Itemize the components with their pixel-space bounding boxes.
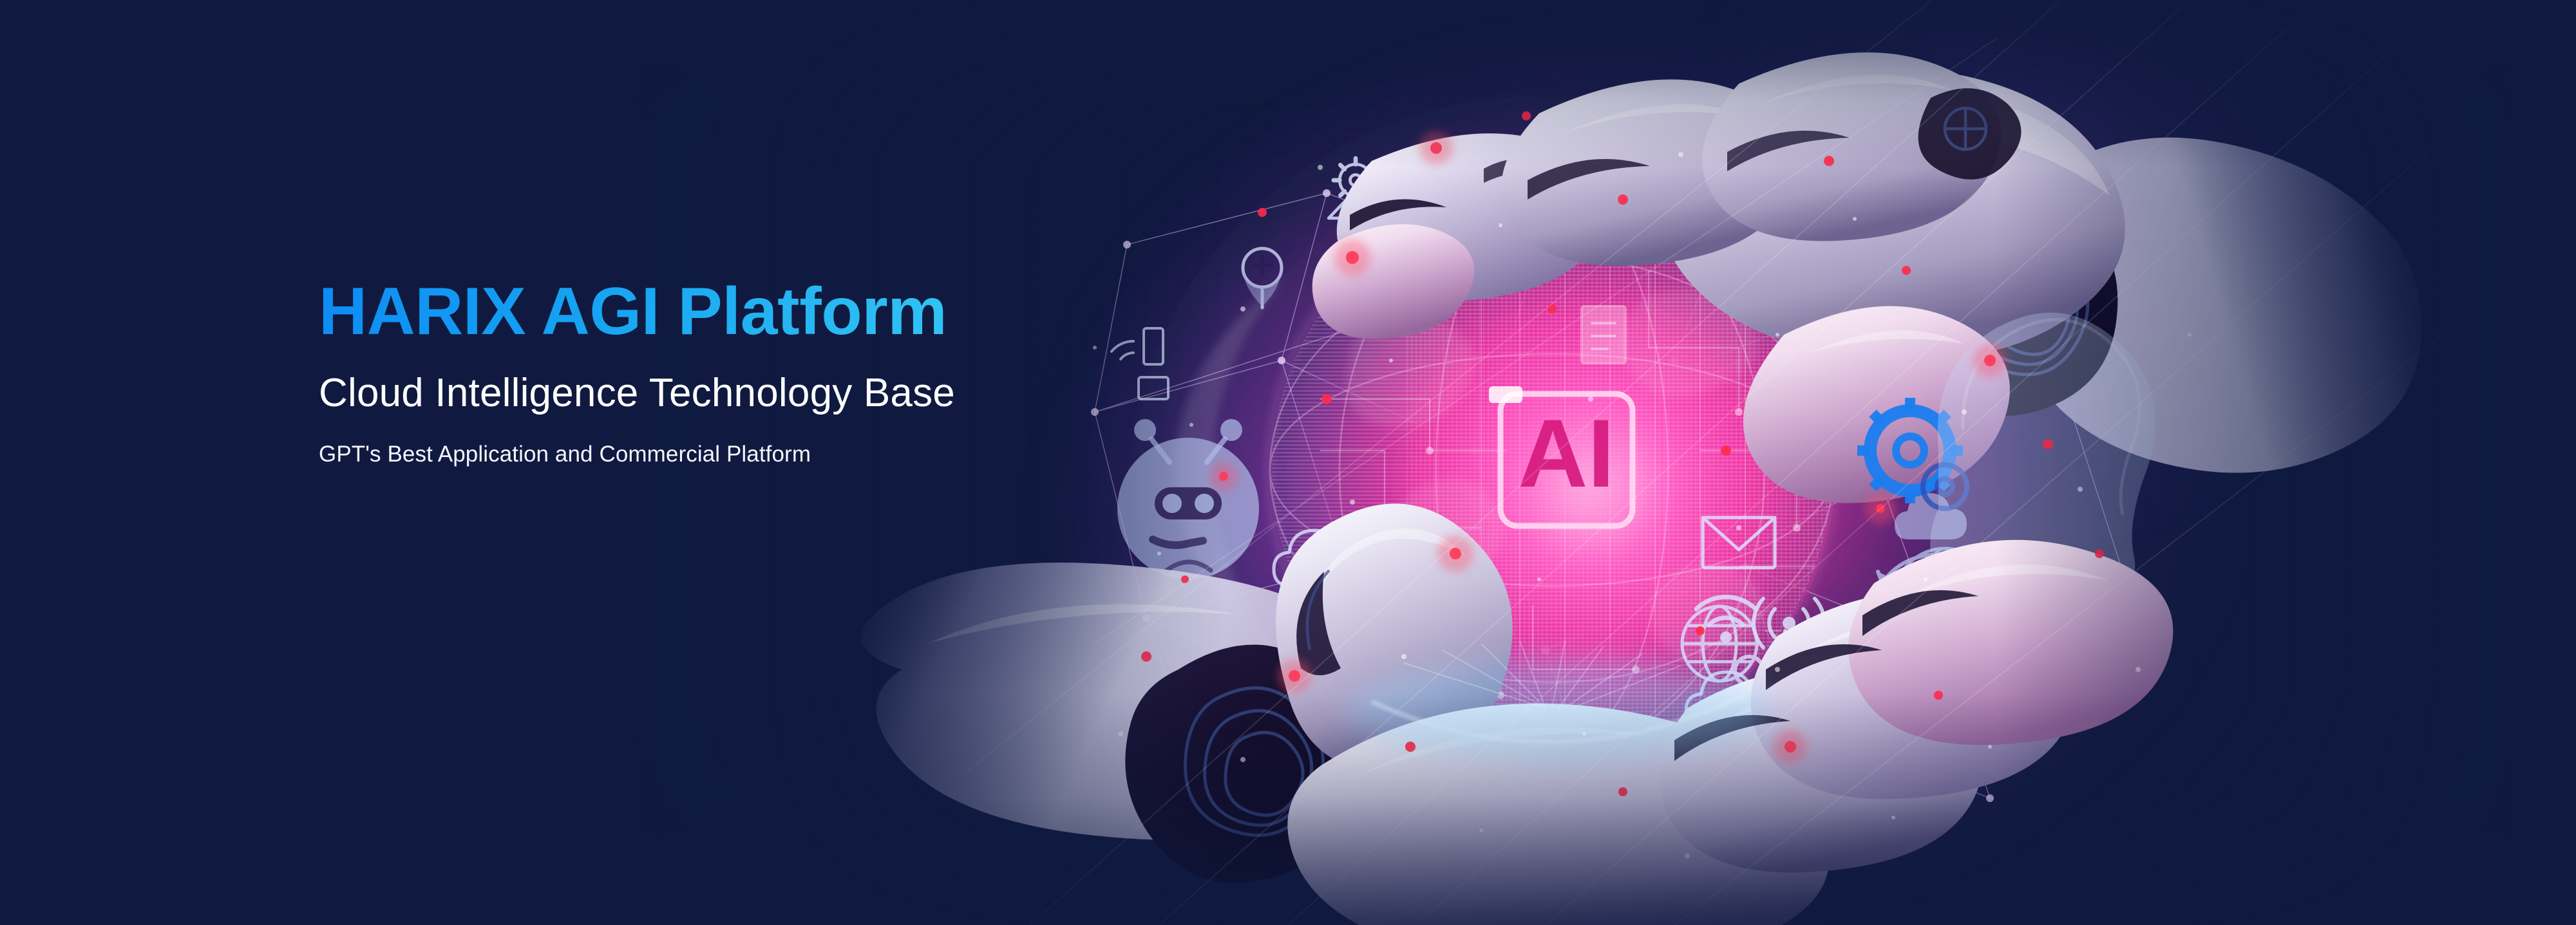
page-tagline: GPT's Best Application and Commercial Pl… bbox=[319, 441, 1285, 468]
page-subtitle: Cloud Intelligence Technology Base bbox=[319, 371, 1285, 415]
bottom-navy-fade bbox=[0, 693, 2576, 925]
page-title: HARIX AGI Platform bbox=[319, 277, 1285, 347]
banner-copy: HARIX AGI Platform Cloud Intelligence Te… bbox=[319, 277, 1285, 468]
top-navy-fade bbox=[0, 0, 2576, 167]
hero-banner: AI bbox=[0, 0, 2576, 925]
